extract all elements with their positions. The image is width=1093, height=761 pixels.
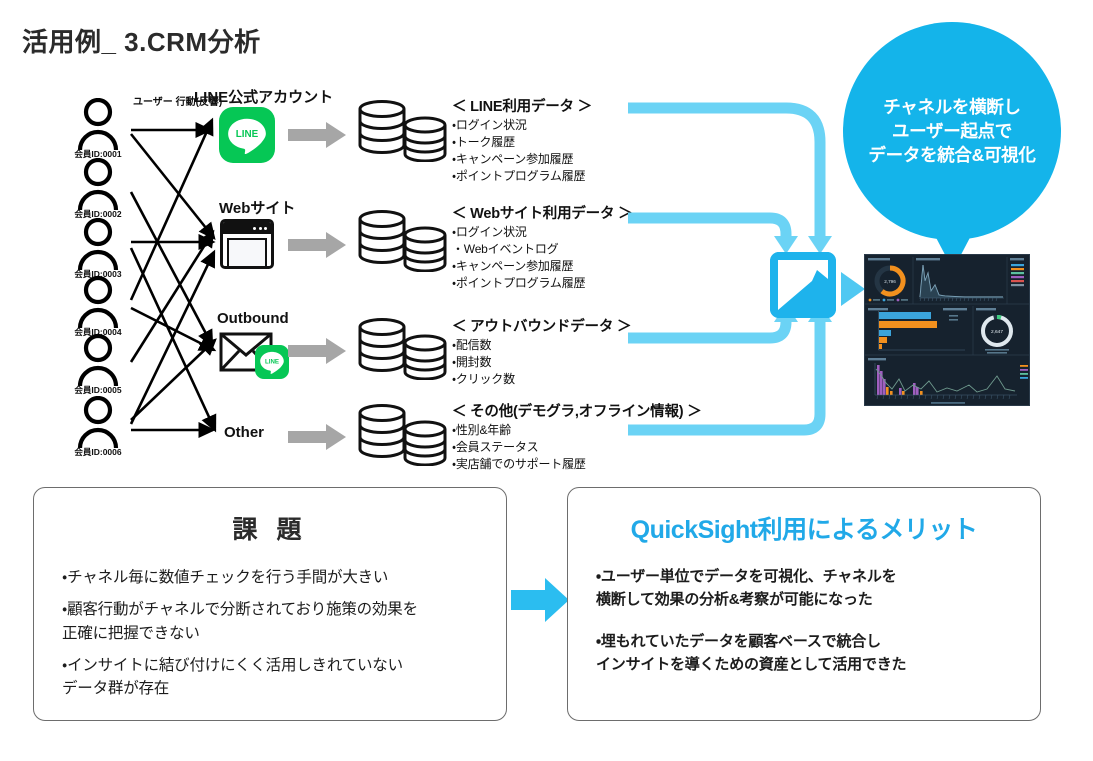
issue-bullet: ・インサイトに結び付けにくく活用しきれていない データ群が存在	[62, 654, 484, 701]
browser-dot-icon	[253, 227, 256, 230]
data-item: ・クリック数	[452, 371, 631, 388]
user-0006: 会員ID:0006	[66, 396, 130, 458]
issue-bullet-list: ・チャネル毎に数値チェックを行う手間が大きい ・顧客行動がチャネルで分断されてお…	[34, 566, 506, 700]
channel-label-outbound: Outbound	[217, 310, 289, 327]
user-avatar-icon	[76, 98, 120, 150]
channel-label-line: LINE公式アカウント	[194, 86, 333, 107]
database-icon-web	[356, 210, 452, 272]
user-0005: 会員ID:0005	[66, 334, 130, 396]
merit-bullet: ・埋もれていたデータを顧客ベースで統合し インサイトを導くための資産として活用で…	[596, 631, 1018, 676]
user-avatar-icon	[76, 334, 120, 386]
data-item: ・ログイン状況	[452, 224, 632, 241]
line-icon: LINE	[219, 107, 275, 163]
issue-panel: 課 題 ・チャネル毎に数値チェックを行う手間が大きい ・顧客行動がチャネルで分断…	[33, 487, 507, 721]
database-icon-outbound	[356, 318, 452, 380]
quicksight-glyph	[770, 252, 836, 318]
line-wordmark: LINE	[236, 129, 259, 140]
data-block-other: ＜ その他(デモグラ,オフライン情報) ＞ ・性別&年齢 ・会員ステータス ・実…	[452, 400, 702, 473]
data-block-heading: ＜ LINE利用データ ＞	[452, 95, 592, 116]
data-item: ・ログイン状況	[452, 117, 592, 134]
user-id-label: 会員ID:0006	[66, 446, 130, 458]
user-0003: 会員ID:0003	[66, 218, 130, 280]
highlight-bubble: チャネルを横断し ユーザー起点で データを統合&可視化	[843, 22, 1061, 240]
user-0004: 会員ID:0004	[66, 276, 130, 338]
issue-panel-title: 課 題	[34, 510, 506, 546]
user-0002: 会員ID:0002	[66, 158, 130, 220]
data-item: ・開封数	[452, 354, 631, 371]
data-block-heading: ＜ アウトバウンドデータ ＞	[452, 315, 631, 336]
merit-bullet: ・ユーザー単位でデータを可視化、チャネルを 横断して効果の分析&考察が可能になっ…	[596, 566, 1018, 611]
gray-arrow-line	[288, 122, 346, 148]
data-block-outbound: ＜ アウトバウンドデータ ＞ ・配信数 ・開封数 ・クリック数	[452, 315, 631, 388]
data-item: ・配信数	[452, 337, 631, 354]
donut-kpi-1: 2,796	[884, 279, 896, 284]
database-icon-line	[356, 100, 452, 162]
data-item: ・実店舗でのサポート履歴	[452, 456, 702, 473]
browser-title-bar	[223, 222, 271, 234]
gray-arrow-outbound	[288, 338, 346, 364]
user-0001: 会員ID:0001	[66, 98, 130, 160]
browser-viewport	[227, 238, 267, 269]
gray-arrow-other	[288, 424, 346, 450]
gray-arrow-web	[288, 232, 346, 258]
database-icon-other	[356, 404, 452, 466]
line-speech-bubble: LINE	[223, 111, 271, 159]
data-item: ・Webイベントログ	[452, 241, 632, 258]
merit-panel-title: QuickSight利用によるメリット	[568, 510, 1040, 546]
issue-bullet: ・顧客行動がチャネルで分断されており施策の効果を 正確に把握できない	[62, 598, 484, 645]
merit-bullet-list: ・ユーザー単位でデータを可視化、チャネルを 横断して効果の分析&考察が可能になっ…	[568, 566, 1040, 676]
user-avatar-icon	[76, 276, 120, 328]
user-avatar-icon	[76, 218, 120, 270]
channel-label-other: Other	[224, 424, 264, 441]
line-speech-bubble: LINE	[257, 347, 287, 377]
data-block-web: ＜ Webサイト利用データ ＞ ・ログイン状況 ・Webイベントログ ・キャンペ…	[452, 202, 632, 292]
user-id-label: 会員ID:0005	[66, 384, 130, 396]
line-wordmark: LINE	[265, 358, 279, 365]
line-icon: LINE	[255, 345, 289, 379]
data-item: ・会員ステータス	[452, 439, 702, 456]
data-item: ・ポイントプログラム履歴	[452, 275, 632, 292]
web-browser-icon	[220, 219, 274, 269]
browser-dot-icon	[264, 227, 267, 230]
amazon-quicksight-logo	[770, 252, 836, 318]
data-block-line: ＜ LINE利用データ ＞ ・ログイン状況 ・トーク履歴 ・キャンペーン参加履歴…	[452, 95, 592, 185]
transition-arrow	[511, 578, 569, 622]
data-item: ・性別&年齢	[452, 422, 702, 439]
issue-bullet: ・チャネル毎に数値チェックを行う手間が大きい	[62, 566, 484, 589]
user-avatar-icon	[76, 396, 120, 448]
donut-kpi-2: 2,647	[991, 329, 1003, 335]
data-item: ・トーク履歴	[452, 134, 592, 151]
merit-panel: QuickSight利用によるメリット ・ユーザー単位でデータを可視化、チャネル…	[567, 487, 1041, 721]
channel-label-web: Webサイト	[219, 197, 295, 218]
data-item: ・キャンペーン参加履歴	[452, 258, 632, 275]
highlight-bubble-text: チャネルを横断し ユーザー起点で データを統合&可視化	[868, 95, 1035, 167]
data-item: ・キャンペーン参加履歴	[452, 151, 592, 168]
user-avatar-icon	[76, 158, 120, 210]
page-title: 活用例_ 3.CRM分析	[22, 22, 261, 59]
dashboard-charts: 2,796	[865, 255, 1030, 406]
quicksight-dashboard-thumbnail[interactable]: 2,796	[864, 254, 1030, 406]
data-block-heading: ＜ その他(デモグラ,オフライン情報) ＞	[452, 400, 702, 421]
data-item: ・ポイントプログラム履歴	[452, 168, 592, 185]
browser-dot-icon	[259, 227, 262, 230]
data-block-heading: ＜ Webサイト利用データ ＞	[452, 202, 632, 223]
